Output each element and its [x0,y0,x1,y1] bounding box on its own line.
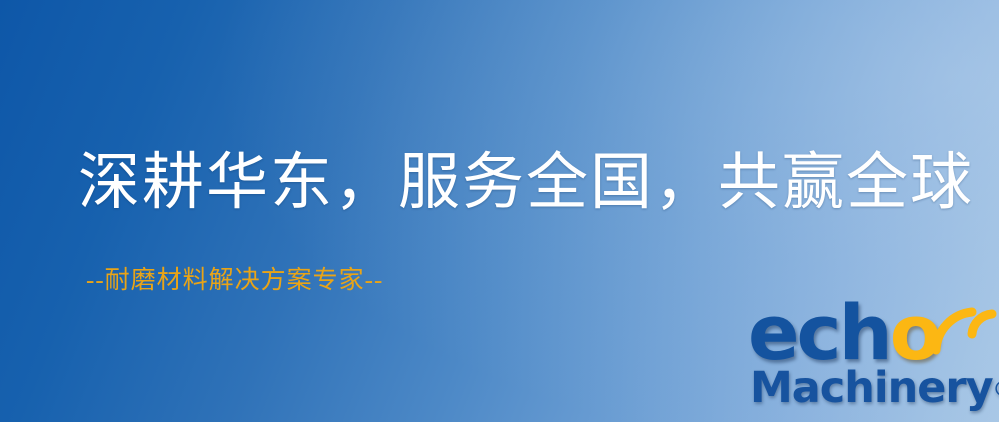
logo-tagline-text: Machinery [750,363,993,413]
registered-trademark-symbol: ® [993,377,999,401]
promo-banner: 深耕华东，服务全国，共赢全球 --耐磨材料解决方案专家-- echo Machi… [0,0,999,422]
banner-subtitle: --耐磨材料解决方案专家-- [86,268,383,293]
logo-wordmark: echo [748,296,939,370]
logo-tagline: Machinery® [750,364,999,413]
wifi-signal-arcs-icon [928,294,999,360]
company-logo: echo Machinery® [742,296,999,422]
banner-headline: 深耕华东，服务全国，共赢全球 [78,152,974,214]
